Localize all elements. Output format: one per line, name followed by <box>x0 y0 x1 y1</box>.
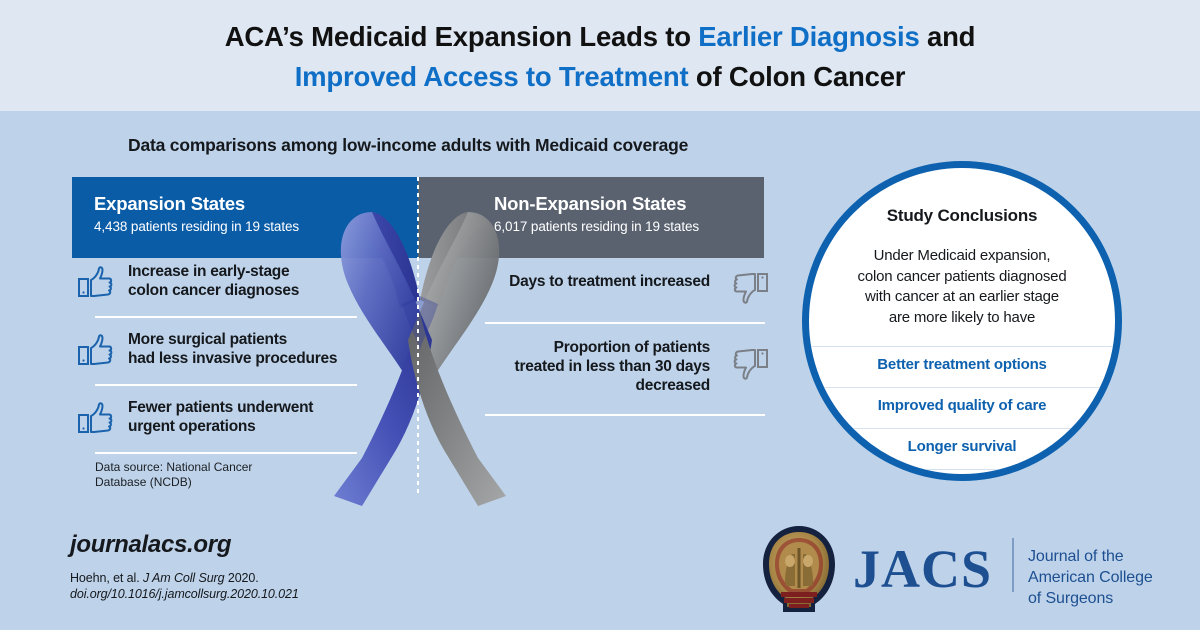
conclusions-separator <box>809 387 1115 388</box>
jacs-wordmark: JACS <box>853 538 992 600</box>
title-text-3: of Colon Cancer <box>688 61 905 92</box>
conclusions-title: Study Conclusions <box>809 206 1115 226</box>
list-item-label: Proportion of patients treated in less t… <box>482 338 710 395</box>
title-accent-2: Improved Access to Treatment <box>295 61 689 92</box>
conclusion-item-2: Improved quality of care <box>809 397 1115 414</box>
thumbs-up-icon <box>76 334 116 370</box>
thumbs-down-icon <box>730 344 770 380</box>
data-source-note: Data source: National Cancer Database (N… <box>95 460 252 489</box>
citation-year: 2020. <box>224 571 258 585</box>
conclusion-item-3: Longer survival <box>809 438 1115 455</box>
list-item-label: Days to treatment increased <box>490 272 710 291</box>
citation-line-1: Hoehn, et al. J Am Coll Surg 2020. <box>70 570 299 586</box>
list-item-label: More surgical patients had less invasive… <box>128 330 337 368</box>
jacs-logo: JACS Journal of the American College of … <box>757 524 1157 616</box>
jacs-subtitle-line-1: Journal of the <box>1028 546 1157 567</box>
conclusions-separator <box>809 469 1115 470</box>
title-text-1: ACA’s Medicaid Expansion Leads to <box>225 21 699 52</box>
thumbs-up-icon <box>76 402 116 438</box>
title-line-1: ACA’s Medicaid Expansion Leads to Earlie… <box>0 17 1200 57</box>
logo-divider <box>1012 538 1014 592</box>
title-accent-1: Earlier Diagnosis <box>698 21 919 52</box>
list-separator <box>485 414 765 416</box>
jacs-subtitle: Journal of the American College of Surge… <box>1028 546 1157 609</box>
conclusions-separator <box>809 346 1115 347</box>
dotted-center-divider <box>417 177 419 497</box>
list-separator <box>95 384 357 386</box>
citation-text: Hoehn, et al. J Am Coll Surg 2020. doi.o… <box>70 570 299 602</box>
jacs-subtitle-line-2: American College of Surgeons <box>1028 567 1157 609</box>
list-separator <box>95 452 357 454</box>
list-item-label: Increase in early-stage colon cancer dia… <box>128 262 299 300</box>
conclusion-item-1: Better treatment options <box>809 356 1115 373</box>
thumbs-down-icon <box>730 268 770 304</box>
thumbs-up-icon <box>76 266 116 302</box>
list-item-label: Fewer patients underwent urgent operatio… <box>128 398 313 436</box>
section-subtitle: Data comparisons among low-income adults… <box>128 135 688 156</box>
page-title: ACA’s Medicaid Expansion Leads to Earlie… <box>0 17 1200 97</box>
journal-website-link[interactable]: journalacs.org <box>70 531 231 559</box>
study-conclusions-panel: Study Conclusions Under Medicaid expansi… <box>802 161 1122 481</box>
list-separator <box>95 316 357 318</box>
list-separator <box>485 322 765 324</box>
acs-seal-icon <box>757 524 841 614</box>
title-text-2: and <box>920 21 976 52</box>
expansion-states-subtitle: 4,438 patients residing in 19 states <box>94 219 299 234</box>
citation-authors: Hoehn, et al. <box>70 571 143 585</box>
conclusions-body: Under Medicaid expansion, colon cancer p… <box>809 246 1115 328</box>
expansion-states-title: Expansion States <box>94 193 245 215</box>
title-line-2: Improved Access to Treatment of Colon Ca… <box>0 57 1200 97</box>
citation-doi[interactable]: doi.org/10.1016/j.jamcollsurg.2020.10.02… <box>70 586 299 602</box>
citation-journal: J Am Coll Surg <box>143 571 225 585</box>
conclusions-separator <box>809 428 1115 429</box>
